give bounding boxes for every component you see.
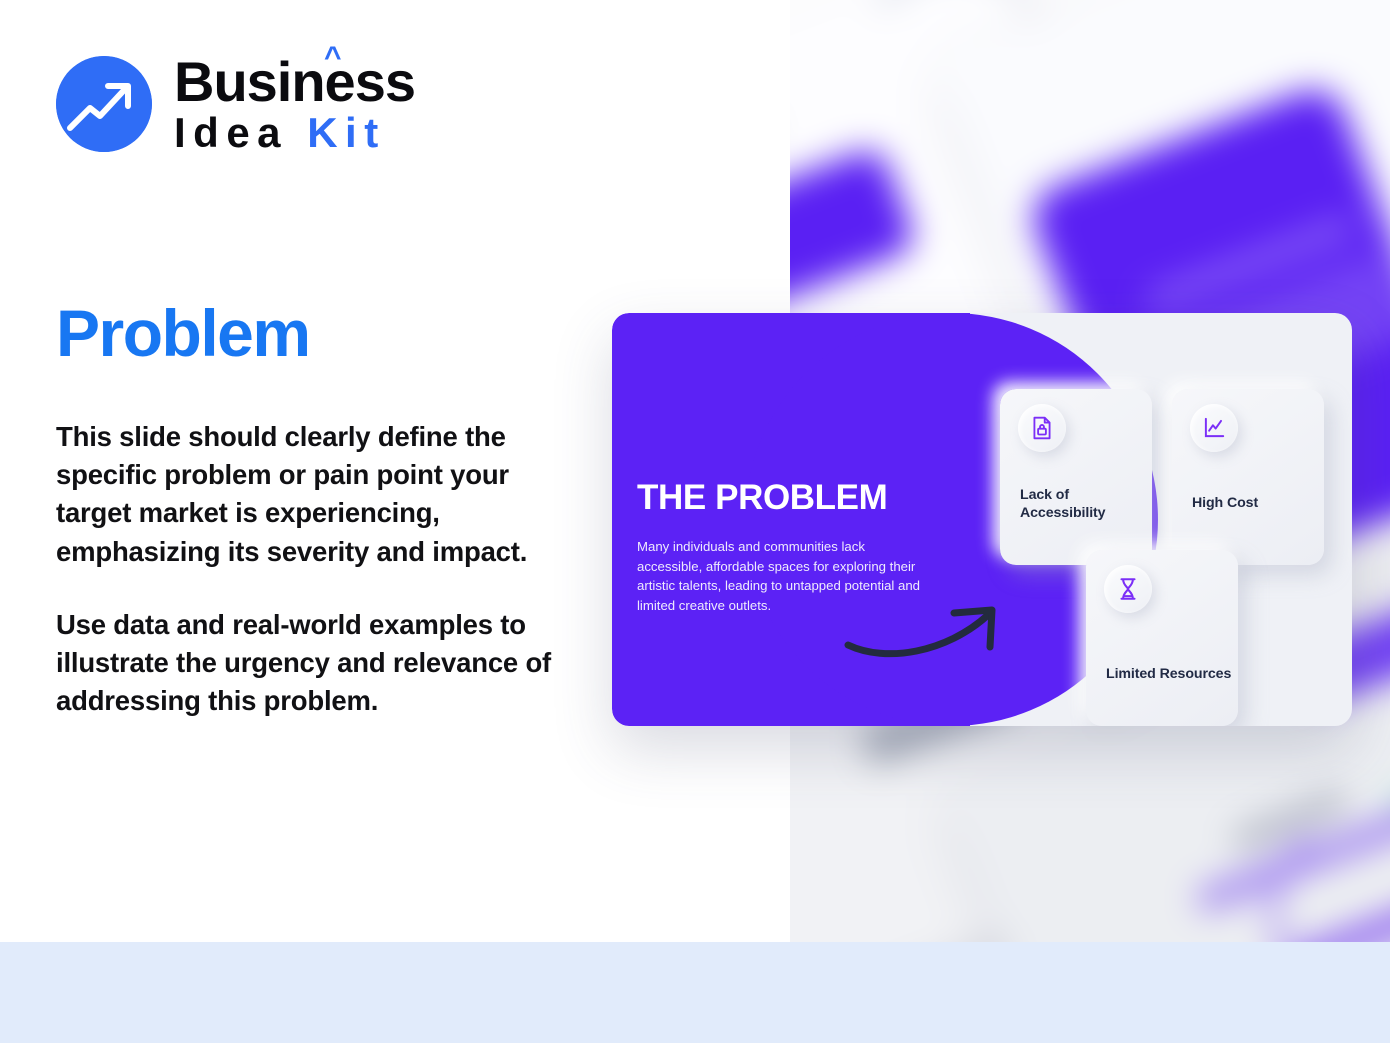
slide-preview-card[interactable]: THE PROBLEM Many individuals and communi… bbox=[612, 313, 1352, 726]
feature-card-lack-of-accessibility[interactable]: Lack of Accessibility bbox=[1000, 389, 1152, 565]
document-lock-icon bbox=[1018, 404, 1066, 452]
hourglass-icon bbox=[1104, 565, 1152, 613]
feature-label: Lack of Accessibility bbox=[1020, 487, 1150, 523]
feature-card-high-cost[interactable]: High Cost bbox=[1172, 389, 1324, 565]
description-paragraph-1: This slide should clearly define the spe… bbox=[56, 418, 566, 571]
feature-label: High Cost bbox=[1192, 495, 1322, 513]
curved-arrow-up-right-icon bbox=[842, 593, 1012, 668]
description-paragraph-2: Use data and real-world examples to illu… bbox=[56, 606, 566, 721]
brand-name-line1-text: Business bbox=[174, 50, 415, 113]
slide-heading: THE PROBLEM bbox=[637, 478, 887, 518]
brand-name-line2-accent: Kit bbox=[307, 109, 386, 156]
footer-strip bbox=[0, 942, 1390, 1043]
page-description: This slide should clearly define the spe… bbox=[56, 418, 566, 721]
growth-arrow-icon bbox=[56, 56, 152, 152]
line-chart-icon bbox=[1190, 404, 1238, 452]
brand-logo[interactable]: Business ^ Idea Kit bbox=[56, 54, 415, 154]
feature-label: Limited Resources bbox=[1106, 666, 1236, 684]
feature-card-limited-resources[interactable]: Limited Resources bbox=[1086, 550, 1238, 726]
slide-page: Business ^ Idea Kit Problem This slide s… bbox=[0, 0, 1390, 1043]
brand-hat-accent-icon: ^ bbox=[324, 43, 341, 73]
brand-name-line1: Business ^ bbox=[174, 54, 415, 110]
brand-name-line2-text: Idea bbox=[174, 109, 307, 156]
brand-wordmark: Business ^ Idea Kit bbox=[174, 54, 415, 154]
page-title: Problem bbox=[56, 295, 310, 371]
brand-name-line2: Idea Kit bbox=[174, 112, 415, 154]
